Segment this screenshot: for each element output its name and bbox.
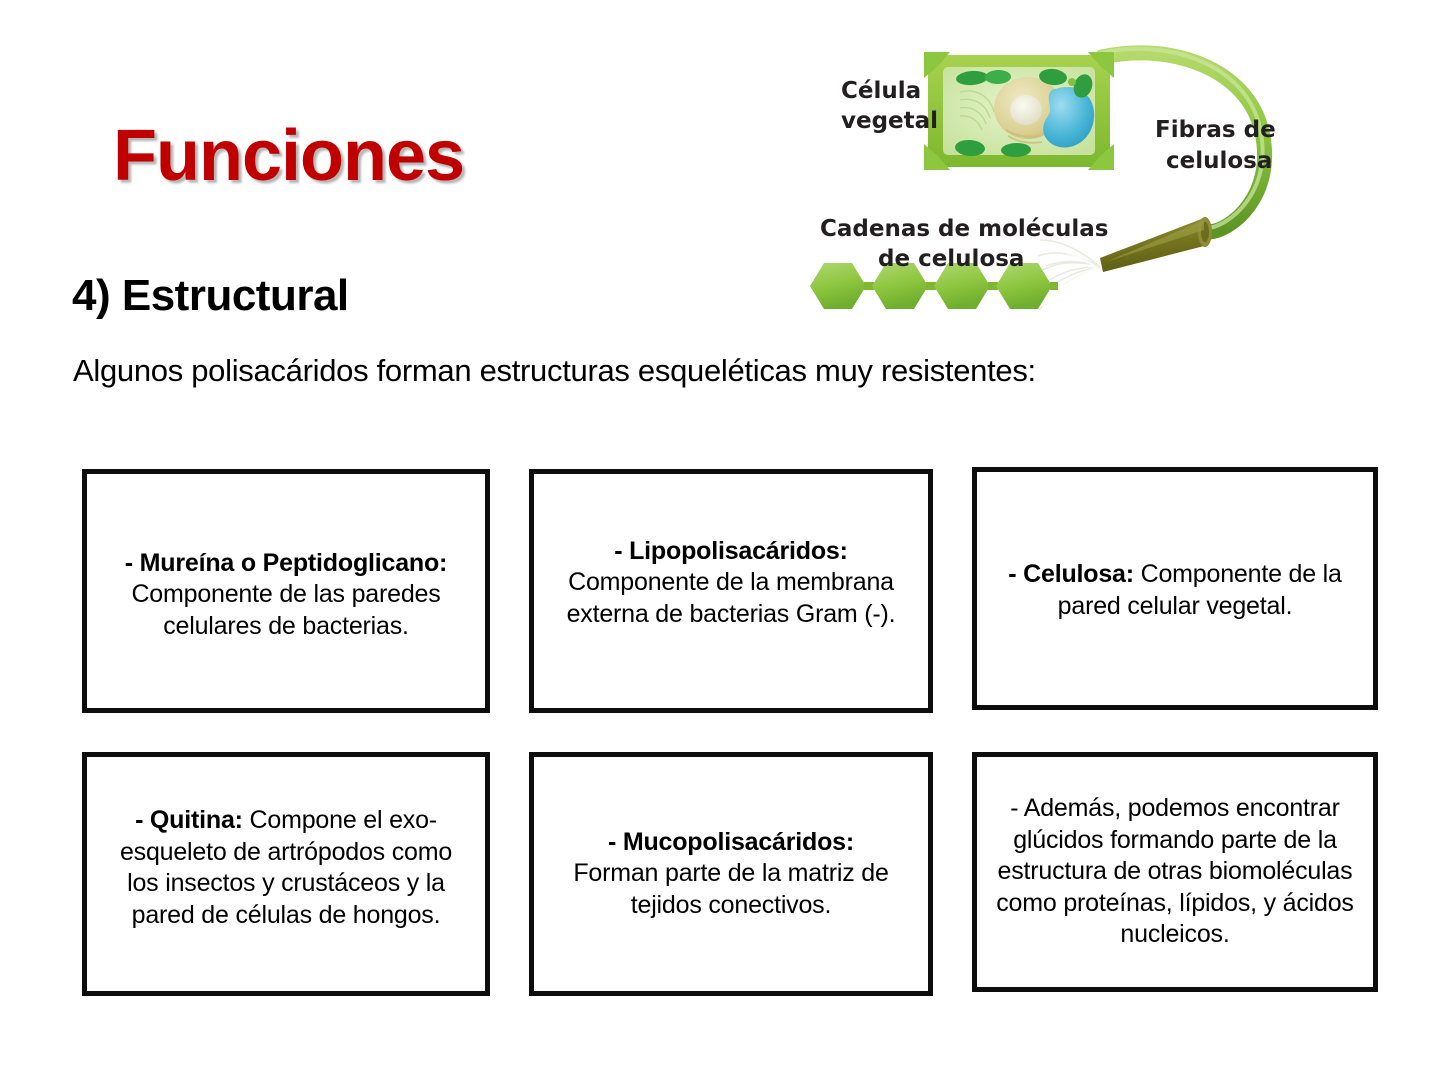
card-text: - Además, podemos encontrar glúcidos for… xyxy=(991,793,1359,951)
card-description: Componente de la membrana externa de bac… xyxy=(567,568,896,628)
card-text: - Quitina: Compone el exo-esqueleto de a… xyxy=(101,805,471,931)
info-card-quitina: - Quitina: Compone el exo-esqueleto de a… xyxy=(82,752,490,996)
figure-label-chains-line2: de celulosa xyxy=(878,246,1024,272)
card-term: - Lipopolisacáridos: xyxy=(614,537,848,565)
plant-cell-illustration xyxy=(924,52,1114,170)
info-card-mucopolisacaridos: - Mucopolisacáridos: Forman parte de la … xyxy=(529,752,933,996)
figure-label-fibers-line1: Fibras de xyxy=(1155,117,1276,143)
figure-label-fibers-line2: celulosa xyxy=(1166,148,1272,174)
info-card-lipopolisacaridos: - Lipopolisacáridos: Componente de la me… xyxy=(529,469,933,713)
card-term: - Mucopolisacáridos: xyxy=(608,828,854,856)
card-term: - Celulosa: xyxy=(1008,560,1134,588)
card-text: - Lipopolisacáridos: Componente de la me… xyxy=(548,536,914,631)
figure-label-plant-cell-line2: vegetal xyxy=(841,108,938,134)
figure-label-chains-line1: Cadenas de moléculas xyxy=(820,216,1108,242)
card-term: - Quitina: xyxy=(135,806,243,834)
card-text: - Mucopolisacáridos: Forman parte de la … xyxy=(548,827,914,922)
section-heading: 4) Estructural xyxy=(72,271,349,321)
figure-label-plant-cell-line1: Célula xyxy=(841,78,921,104)
card-description: Componente de las paredes celulares de b… xyxy=(131,580,440,640)
lead-paragraph: Algunos polisacáridos forman estructuras… xyxy=(73,353,1036,389)
page-title: Funciones xyxy=(113,115,464,197)
info-card-celulosa: - Celulosa: Componente de la pared celul… xyxy=(972,467,1378,710)
cellulose-diagram: Célula vegetal Fibras de celulosa Cadena… xyxy=(800,20,1300,320)
info-card-ademas: - Además, podemos encontrar glúcidos for… xyxy=(972,752,1378,992)
card-term: - Mureína o Peptidoglicano: xyxy=(125,549,447,577)
info-card-mureina: - Mureína o Peptidoglicano: Componente d… xyxy=(82,469,490,713)
card-text: - Celulosa: Componente de la pared celul… xyxy=(991,559,1359,622)
card-description: Forman parte de la matriz de tejidos con… xyxy=(573,859,888,919)
card-text: - Mureína o Peptidoglicano: Componente d… xyxy=(101,548,471,643)
card-description: - Además, podemos encontrar glúcidos for… xyxy=(996,794,1353,948)
fiber-bundle xyxy=(1100,217,1212,272)
